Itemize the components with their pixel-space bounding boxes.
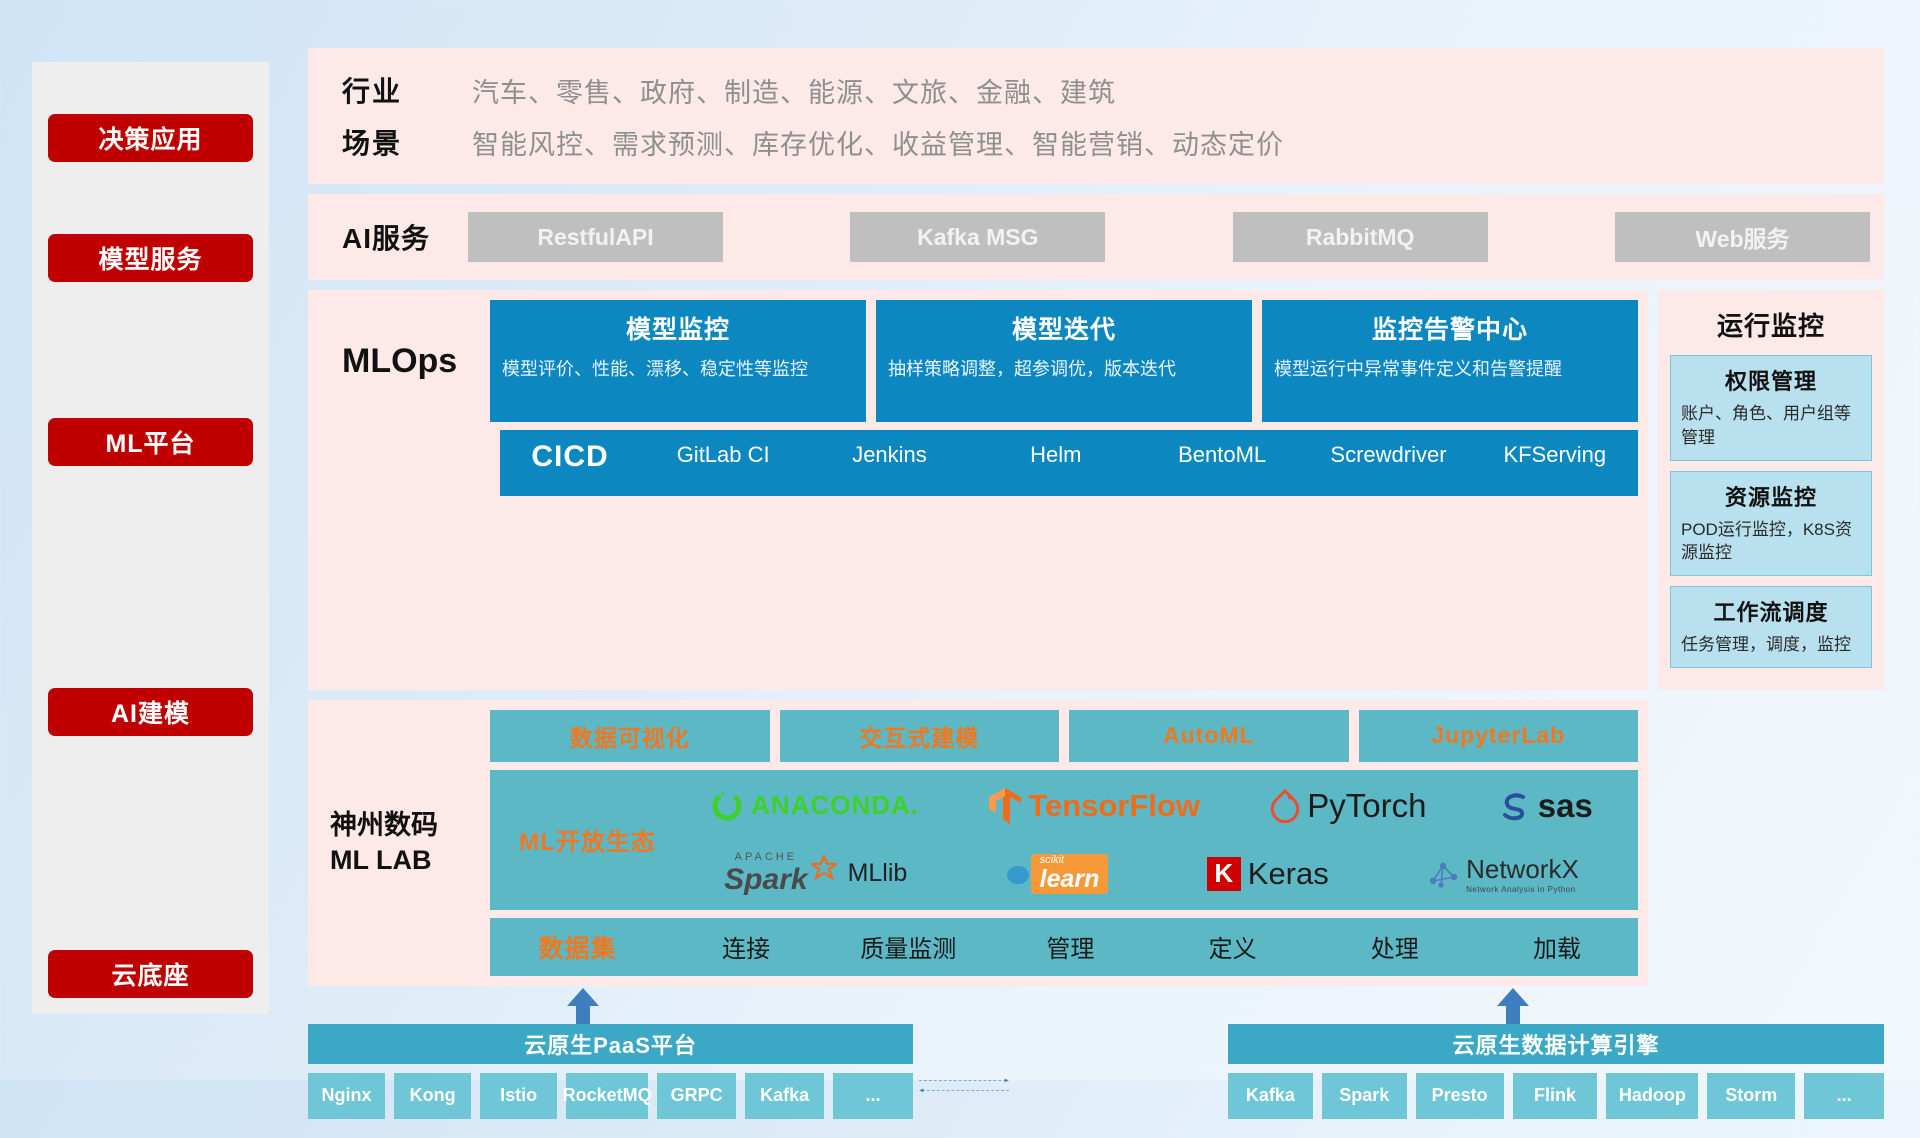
cicd-item-gitlab-ci[interactable]: GitLab CI [640,440,806,470]
rail-chip-label: 云底座 [111,956,189,992]
monitor-card-workflow[interactable]: 工作流调度 任务管理，调度，监控 [1670,586,1872,668]
scenario-row: 场景 智能风控、需求预测、库存优化、收益管理、智能营销、动态定价 [342,116,1884,168]
rail-chip-model-service[interactable]: 模型服务 [48,234,253,282]
runtime-monitoring-column: 运行监控 权限管理 账户、角色、用户组等管理 资源监控 POD运行监控，K8S资… [1658,290,1884,690]
ecosystem-logos: ANACONDA. TensorFlow [675,773,1628,907]
mllib-logo-text: MLlib [848,859,908,888]
ecosystem-logo-line-2: APACHE Spark MLlib [675,841,1628,907]
card-title: 权限管理 [1681,364,1861,396]
dataset-item-load[interactable]: 加载 [1476,929,1638,964]
ml-open-ecosystem-row: ML开放生态 [490,770,1638,910]
networkx-logo: NetworkX Network Analysis in Python [1427,854,1579,894]
keras-logo: K Keras [1207,856,1329,892]
scenario-value: 智能风控、需求预测、库存优化、收益管理、智能营销、动态定价 [472,123,1284,162]
ai-service-band: AI服务 RestfulAPI Kafka MSG RabbitMQ Web服务 [308,194,1884,280]
ecosystem-logo-line-1: ANACONDA. TensorFlow [675,773,1628,839]
tool-chip-data-visualization[interactable]: 数据可视化 [490,710,770,762]
ai-service-chip-web[interactable]: Web服务 [1615,212,1870,262]
cloud-paas-bar: 云原生PaaS平台 [308,1024,913,1064]
pytorch-logo: PyTorch [1270,787,1426,825]
rail-chip-label: 决策应用 [98,120,202,156]
networkx-logo-subtitle: Network Analysis in Python [1466,885,1579,894]
cicd-bar: CICD GitLab CI Jenkins Helm BentoML Scre… [500,430,1638,496]
scenario-label: 场景 [342,122,472,162]
cloud-paas-group: 云原生PaaS平台 Nginx Kong Istio RocketMQ GRPC… [308,1024,913,1119]
rail-chip-cloud-base[interactable]: 云底座 [48,950,253,998]
keras-logo-text: Keras [1248,856,1329,892]
cicd-item-helm[interactable]: Helm [973,440,1139,470]
sas-logo-text: sas [1538,787,1593,825]
card-desc: POD运行监控，K8S资源监控 [1681,518,1861,566]
ai-service-items: RestfulAPI Kafka MSG RabbitMQ Web服务 [468,212,1884,262]
cicd-title: CICD [500,440,640,474]
tool-chip-interactive-modeling[interactable]: 交互式建模 [780,710,1060,762]
ai-service-chip-kafka-msg[interactable]: Kafka MSG [850,212,1105,262]
tool-chip-automl[interactable]: AutoML [1069,710,1349,762]
mlops-card-model-monitoring[interactable]: 模型监控 模型评价、性能、漂移、稳定性等监控 [490,300,866,422]
card-desc: 任务管理，调度，监控 [1681,633,1861,657]
dataset-title: 数据集 [490,929,665,965]
spark-logo-text: Spark [724,863,807,897]
learn-logo-text: learn [1040,866,1100,892]
cicd-item-kfserving[interactable]: KFServing [1472,440,1638,470]
mlops-cards: 模型监控 模型评价、性能、漂移、稳定性等监控 模型迭代 抽样策略调整，超参调优，… [490,300,1638,422]
main-stack: 行业 汽车、零售、政府、制造、能源、文旅、金融、建筑 场景 智能风控、需求预测、… [308,48,1884,1138]
ml-lab-section: 神州数码 ML LAB 数据可视化 交互式建模 AutoML JupyterLa… [308,700,1648,986]
arrow-up-icon-right [1493,986,1533,1026]
cicd-item-jenkins[interactable]: Jenkins [806,440,972,470]
ai-service-chip-rabbitmq[interactable]: RabbitMQ [1233,212,1488,262]
anaconda-logo: ANACONDA. [710,789,919,823]
rail-chip-ml-platform[interactable]: ML平台 [48,418,253,466]
business-band: 行业 汽车、零售、政府、制造、能源、文旅、金融、建筑 场景 智能风控、需求预测、… [308,48,1884,184]
card-desc: 账户、角色、用户组等管理 [1681,402,1861,450]
tensorflow-logo-text: TensorFlow [1028,788,1200,824]
anaconda-logo-text: ANACONDA. [751,790,919,821]
cloud-data-engine-group: 云原生数据计算引擎 Kafka Spark Presto Flink Hadoo… [1228,1024,1884,1119]
ml-lab-tool-row: 数据可视化 交互式建模 AutoML JupyterLab [490,710,1638,762]
ml-lab-label: 神州数码 ML LAB [308,710,490,976]
mlops-label: MLOps [308,300,490,422]
monitor-card-resource[interactable]: 资源监控 POD运行监控，K8S资源监控 [1670,471,1872,577]
card-title: 模型监控 [502,310,854,346]
apache-label: APACHE [735,851,797,863]
tensorflow-logo: TensorFlow [989,788,1200,824]
card-desc: 模型运行中异常事件定义和告警提醒 [1274,356,1626,382]
rail-chip-ai-modeling[interactable]: AI建模 [48,688,253,736]
card-title: 监控告警中心 [1274,310,1626,346]
rail-chip-decision[interactable]: 决策应用 [48,114,253,162]
runtime-monitoring-title: 运行监控 [1670,300,1872,355]
apache-spark-mllib-logo: APACHE Spark MLlib [724,851,907,897]
monitor-card-permission[interactable]: 权限管理 账户、角色、用户组等管理 [1670,355,1872,461]
dashed-connector-arrows [916,1056,1012,1116]
dataset-item-connect[interactable]: 连接 [665,929,827,964]
dataset-item-quality-monitoring[interactable]: 质量监测 [827,929,989,964]
tool-chip-jupyterlab[interactable]: JupyterLab [1359,710,1639,762]
industry-label: 行业 [342,70,472,110]
diagram-root: 决策应用 模型服务 ML平台 AI建模 云底座 行业 汽车、零售、政府、制造、能… [0,0,1920,1080]
dataset-row: 数据集 连接 质量监测 管理 定义 处理 加载 [490,918,1638,976]
dataset-item-manage[interactable]: 管理 [989,929,1151,964]
left-layer-rail: 决策应用 模型服务 ML平台 AI建模 云底座 [32,62,269,1014]
industry-row: 行业 汽车、零售、政府、制造、能源、文旅、金融、建筑 [342,64,1884,116]
arrow-up-icon-left [563,986,603,1026]
industry-value: 汽车、零售、政府、制造、能源、文旅、金融、建筑 [472,71,1116,110]
rail-chip-label: ML平台 [105,424,195,460]
ml-open-ecosystem-label: ML开放生态 [500,822,675,857]
cicd-item-screwdriver[interactable]: Screwdriver [1305,440,1471,470]
cloud-data-engine-bar: 云原生数据计算引擎 [1228,1024,1884,1064]
ml-lab-label-line1: 神州数码 [330,808,438,843]
ml-platform-band: MLOps 模型监控 模型评价、性能、漂移、稳定性等监控 模型迭代 抽样策略调整… [308,290,1884,690]
mlops-section: MLOps 模型监控 模型评价、性能、漂移、稳定性等监控 模型迭代 抽样策略调整… [308,290,1648,690]
cicd-item-bentoml[interactable]: BentoML [1139,440,1305,470]
rail-chip-label: 模型服务 [98,240,202,276]
card-title: 资源监控 [1681,480,1861,512]
mlops-card-model-iteration[interactable]: 模型迭代 抽样策略调整，超参调优，版本迭代 [876,300,1252,422]
rail-chip-label: AI建模 [111,694,190,730]
ml-lab-label-line2: ML LAB [330,843,438,878]
dataset-item-define[interactable]: 定义 [1152,929,1314,964]
keras-mark: K [1207,857,1241,891]
card-desc: 抽样策略调整，超参调优，版本迭代 [888,356,1240,382]
scikit-learn-logo: scikit learn [1006,854,1109,893]
pytorch-logo-text: PyTorch [1307,787,1426,825]
sas-logo: sas [1497,787,1593,825]
mlops-card-alert-center[interactable]: 监控告警中心 模型运行中异常事件定义和告警提醒 [1262,300,1638,422]
dataset-item-process[interactable]: 处理 [1314,929,1476,964]
card-title: 工作流调度 [1681,595,1861,627]
ai-service-chip-restfulapi[interactable]: RestfulAPI [468,212,723,262]
card-desc: 模型评价、性能、漂移、稳定性等监控 [502,356,854,382]
card-title: 模型迭代 [888,310,1240,346]
ai-service-label: AI服务 [308,217,468,257]
networkx-logo-text: NetworkX [1466,854,1579,885]
ai-modeling-band: 神州数码 ML LAB 数据可视化 交互式建模 AutoML JupyterLa… [308,700,1884,986]
cloud-base-band: 云原生PaaS平台 Nginx Kong Istio RocketMQ GRPC… [308,998,1884,1138]
